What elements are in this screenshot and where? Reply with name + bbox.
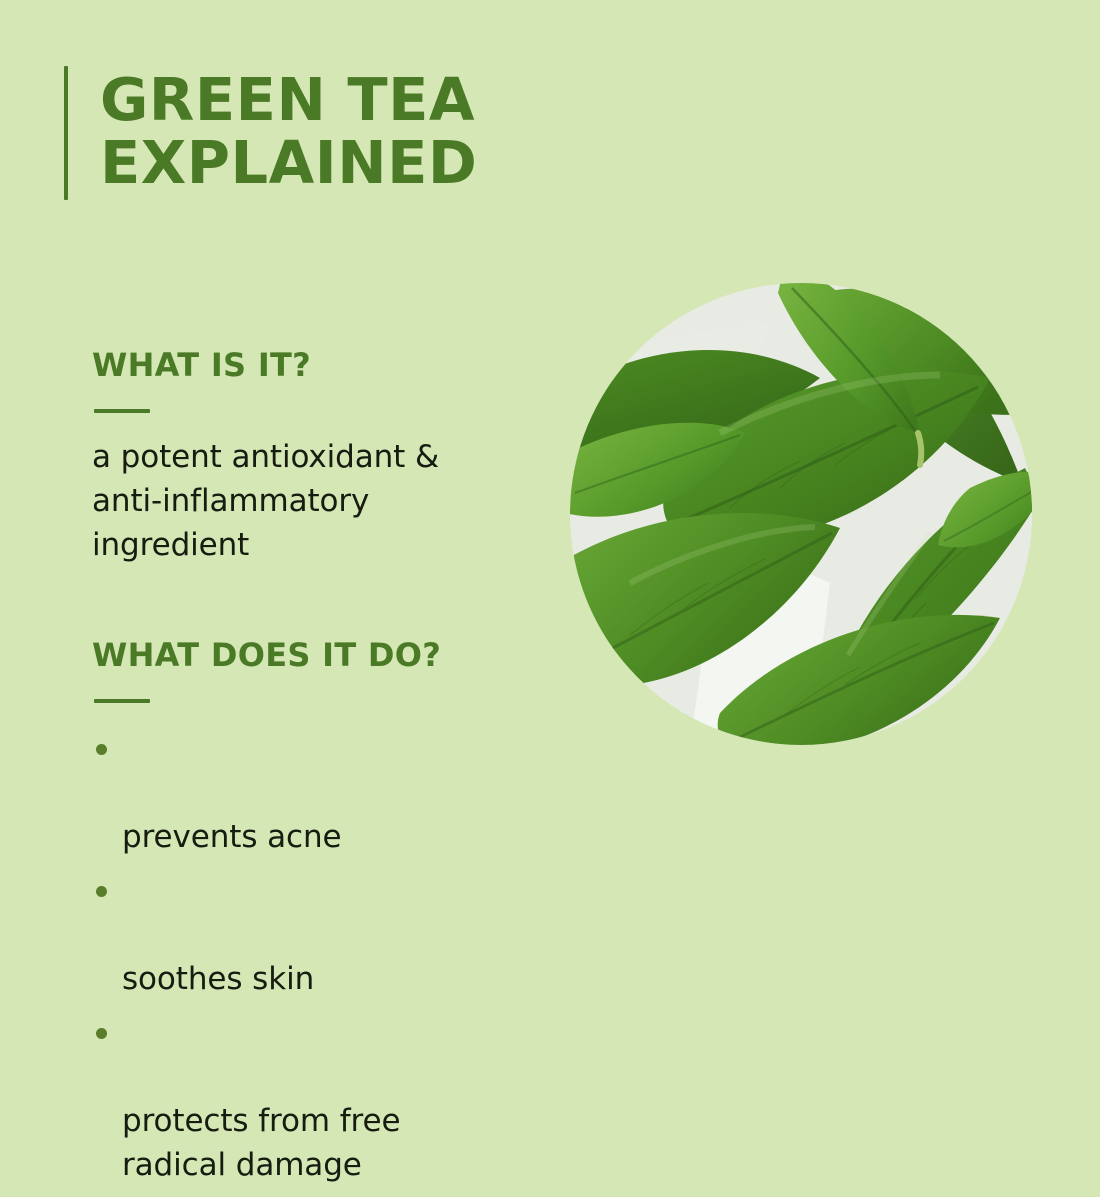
section-heading-what-does-it-do: WHAT DOES IT DO?	[92, 638, 522, 673]
list-item-label: protects from free radical damage	[122, 1103, 400, 1183]
section-heading-what-is-it: WHAT IS IT?	[92, 348, 522, 383]
bullet-dot-icon	[96, 1028, 107, 1039]
bullet-dot-icon	[96, 886, 107, 897]
section-divider	[94, 409, 150, 413]
section-body-what-is-it: a potent antioxidant & anti-inflammatory…	[92, 435, 522, 567]
list-item: soothes skin	[92, 869, 522, 1001]
leaves-illustration	[570, 283, 1032, 745]
title-accent-bar	[64, 66, 68, 200]
infographic-card: GREEN TEA EXPLAINED WHAT IS IT? a potent…	[0, 0, 1100, 1100]
list-item: protects from free radical damage	[92, 1011, 522, 1187]
green-tea-leaves-photo	[570, 283, 1032, 745]
section-what-does-it-do: WHAT DOES IT DO? prevents acne soothes s…	[92, 638, 522, 1197]
benefits-list: prevents acne soothes skin protects from…	[92, 727, 522, 1187]
bullet-dot-icon	[96, 744, 107, 755]
list-item: prevents acne	[92, 727, 522, 859]
page-title: GREEN TEA EXPLAINED	[100, 66, 477, 200]
section-what-is-it: WHAT IS IT? a potent antioxidant & anti-…	[92, 348, 522, 567]
page-title-block: GREEN TEA EXPLAINED	[64, 66, 477, 200]
list-item-label: prevents acne	[122, 819, 342, 855]
section-divider	[94, 699, 150, 703]
list-item-label: soothes skin	[122, 961, 314, 997]
